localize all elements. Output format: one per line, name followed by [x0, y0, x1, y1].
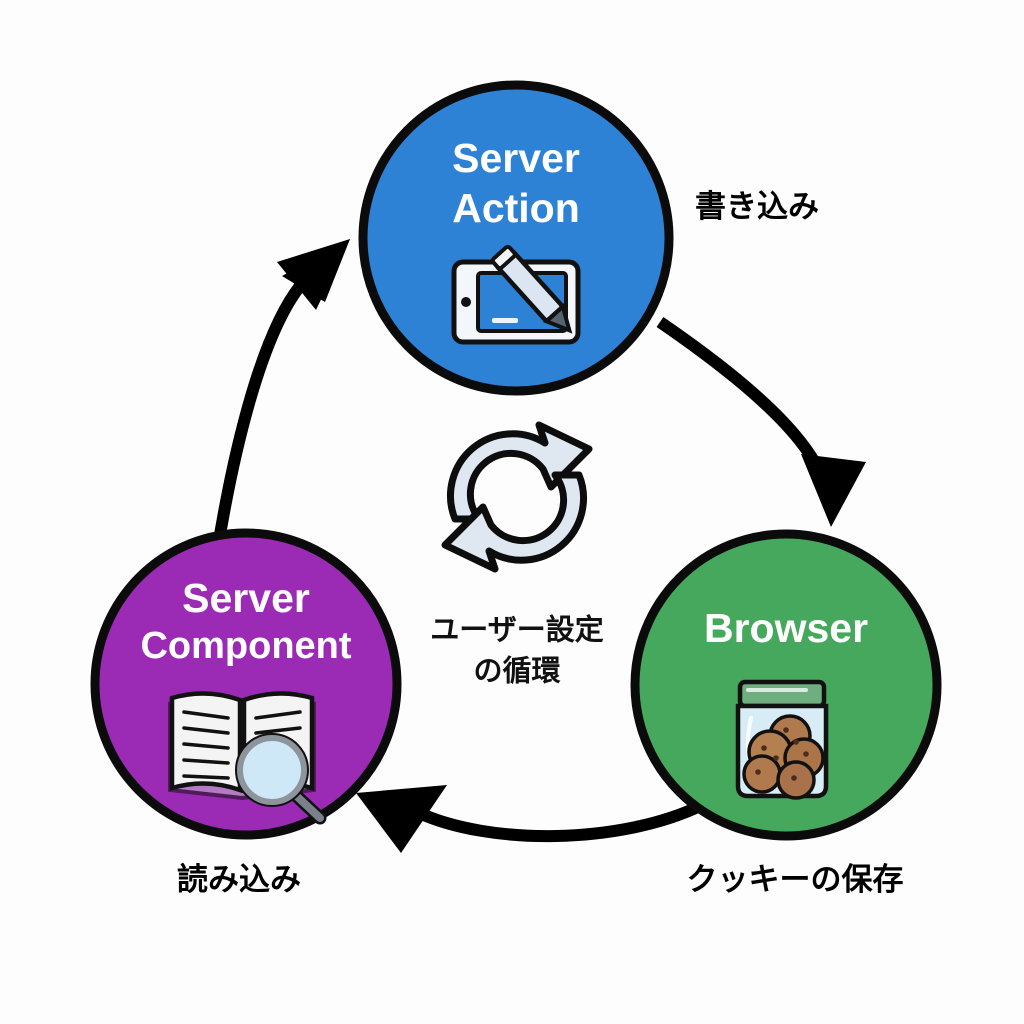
- edge-write: 書き込み: [660, 189, 866, 527]
- node-server-component-label-line1: Server: [182, 575, 310, 621]
- tablet-pencil-icon: [454, 246, 578, 342]
- center-label-line2: の循環: [473, 655, 561, 688]
- edge-write-arrowhead: [801, 454, 866, 527]
- edge-save-cookie-label: クッキーの保存: [687, 862, 904, 897]
- center-cycle-group: ユーザー設定 の循環: [430, 425, 603, 688]
- refresh-cycle-icon: [445, 425, 589, 569]
- node-server-action-label-line2: Action: [452, 185, 580, 231]
- edge-write-curve: [660, 322, 829, 500]
- node-server-action-circle[interactable]: [363, 85, 669, 391]
- cycle-diagram: 書き込み クッキーの保存 読み込み Server Action: [0, 0, 1024, 1024]
- node-browser[interactable]: Browser: [635, 534, 937, 836]
- node-server-action-label-line1: Server: [452, 135, 580, 181]
- edge-read-label: 読み込み: [177, 862, 301, 897]
- node-browser-label: Browser: [704, 605, 868, 651]
- center-label-line1: ユーザー設定: [430, 613, 603, 647]
- cookie-jar-icon: [738, 682, 826, 798]
- node-server-action[interactable]: Server Action: [363, 85, 669, 391]
- edge-write-label: 書き込み: [695, 189, 819, 224]
- node-server-component[interactable]: Server Component: [95, 533, 397, 835]
- edge-save-cookie-curve: [417, 806, 700, 836]
- node-server-component-label-line2: Component: [140, 625, 351, 667]
- diagram-canvas: 書き込み クッキーの保存 読み込み Server Action: [0, 0, 1024, 1024]
